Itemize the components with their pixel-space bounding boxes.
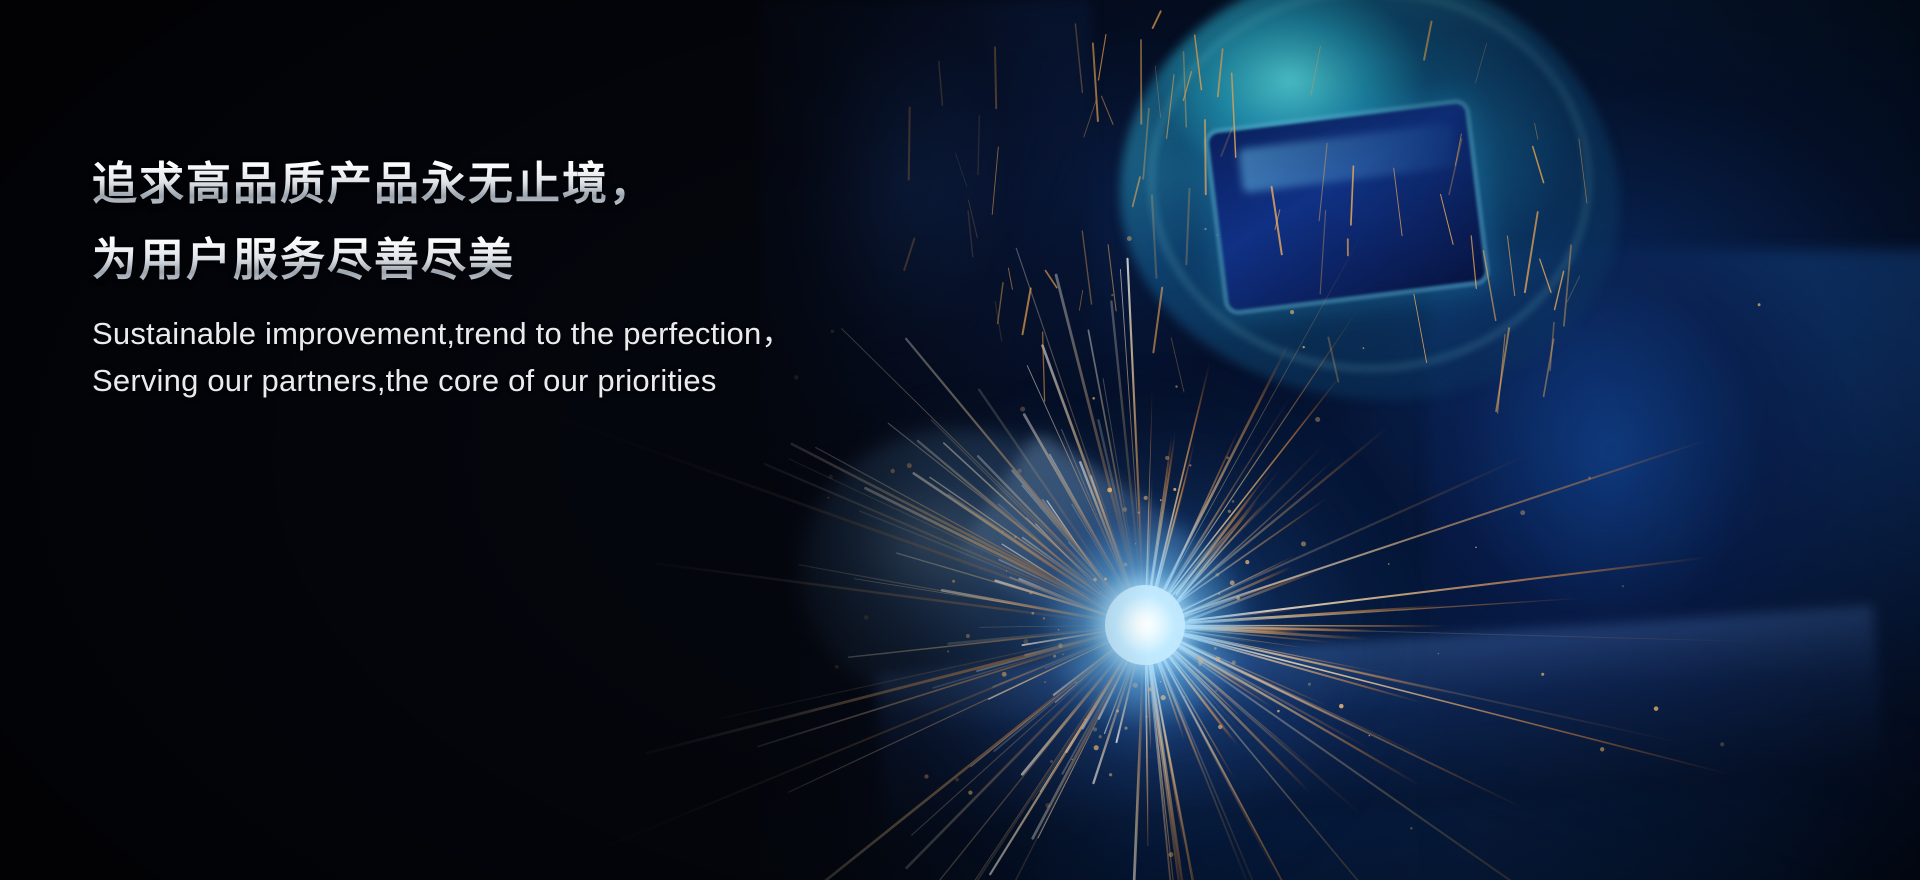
subheadline-line-2: Serving our partners,the core of our pri… bbox=[92, 357, 992, 404]
hero-copy: 追求高品质产品永无止境， 为用户服务尽善尽美 Sustainable impro… bbox=[92, 146, 992, 404]
hero-banner: 追求高品质产品永无止境， 为用户服务尽善尽美 Sustainable impro… bbox=[0, 0, 1920, 880]
vignette-overlay bbox=[0, 0, 1920, 880]
subheadline-line-1: Sustainable improvement,trend to the per… bbox=[92, 310, 992, 357]
headline-line-2: 为用户服务尽善尽美 bbox=[92, 222, 992, 298]
subheadline: Sustainable improvement,trend to the per… bbox=[92, 310, 992, 404]
headline-line-1: 追求高品质产品永无止境， bbox=[92, 146, 992, 222]
